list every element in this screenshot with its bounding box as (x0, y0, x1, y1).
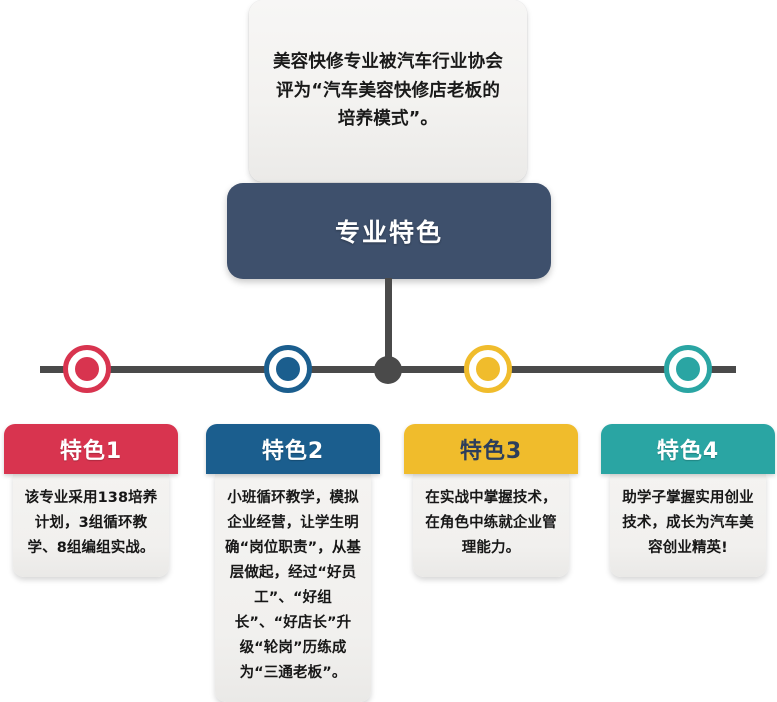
feature-card-2-label: 特色2 (262, 433, 324, 465)
feature-card-2: 特色2 小班循环教学，模拟企业经营，让学生明确“岗位职责”，从基层做起，经过“好… (206, 424, 380, 702)
feature-card-3-body: 在实战中掌握技术，在角色中练就企业管理能力。 (413, 474, 569, 577)
timeline-node-2-core (276, 357, 300, 381)
feature-card-3-header: 特色3 (404, 424, 578, 474)
feature-card-4-header: 特色4 (601, 424, 775, 474)
timeline-node-1 (63, 345, 111, 393)
feature-card-4-body: 助学子掌握实用创业技术，成长为汽车美容创业精英! (610, 474, 766, 577)
feature-card-3: 特色3 在实战中掌握技术，在角色中练就企业管理能力。 (404, 424, 578, 577)
feature-card-3-text: 在实战中掌握技术，在角色中练就企业管理能力。 (421, 486, 561, 561)
feature-card-2-text: 小班循环教学，模拟企业经营，让学生明确“岗位职责”，从基层做起，经过“好员工”、… (223, 486, 363, 686)
feature-card-3-label: 特色3 (460, 433, 522, 465)
timeline-node-4 (664, 345, 712, 393)
timeline-node-4-core (676, 357, 700, 381)
feature-card-4-label: 特色4 (657, 433, 719, 465)
feature-card-1-header: 特色1 (4, 424, 178, 474)
feature-card-1-text: 该专业采用138培养计划，3组循环教学、8组编组实战。 (21, 486, 161, 561)
feature-card-2-body: 小班循环教学，模拟企业经营，让学生明确“岗位职责”，从基层做起，经过“好员工”、… (215, 474, 371, 702)
timeline-center-dot (374, 356, 402, 384)
timeline-node-2 (264, 345, 312, 393)
feature-card-1: 特色1 该专业采用138培养计划，3组循环教学、8组编组实战。 (4, 424, 178, 577)
timeline-node-3-core (476, 357, 500, 381)
timeline-node-3 (464, 345, 512, 393)
feature-card-2-header: 特色2 (206, 424, 380, 474)
callout-text: 美容快修专业被汽车行业协会评为“汽车美容快修店老板的培养模式”。 (268, 48, 508, 133)
feature-card-4-text: 助学子掌握实用创业技术，成长为汽车美容创业精英! (618, 486, 758, 561)
feature-card-1-label: 特色1 (60, 433, 122, 465)
timeline-node-1-core (75, 357, 99, 381)
callout-bubble: 美容快修专业被汽车行业协会评为“汽车美容快修店老板的培养模式”。 (249, 0, 527, 182)
main-banner: 专业特色 (227, 183, 551, 279)
feature-card-4: 特色4 助学子掌握实用创业技术，成长为汽车美容创业精英! (601, 424, 775, 577)
banner-title: 专业特色 (335, 213, 443, 249)
feature-card-1-body: 该专业采用138培养计划，3组循环教学、8组编组实战。 (13, 474, 169, 577)
